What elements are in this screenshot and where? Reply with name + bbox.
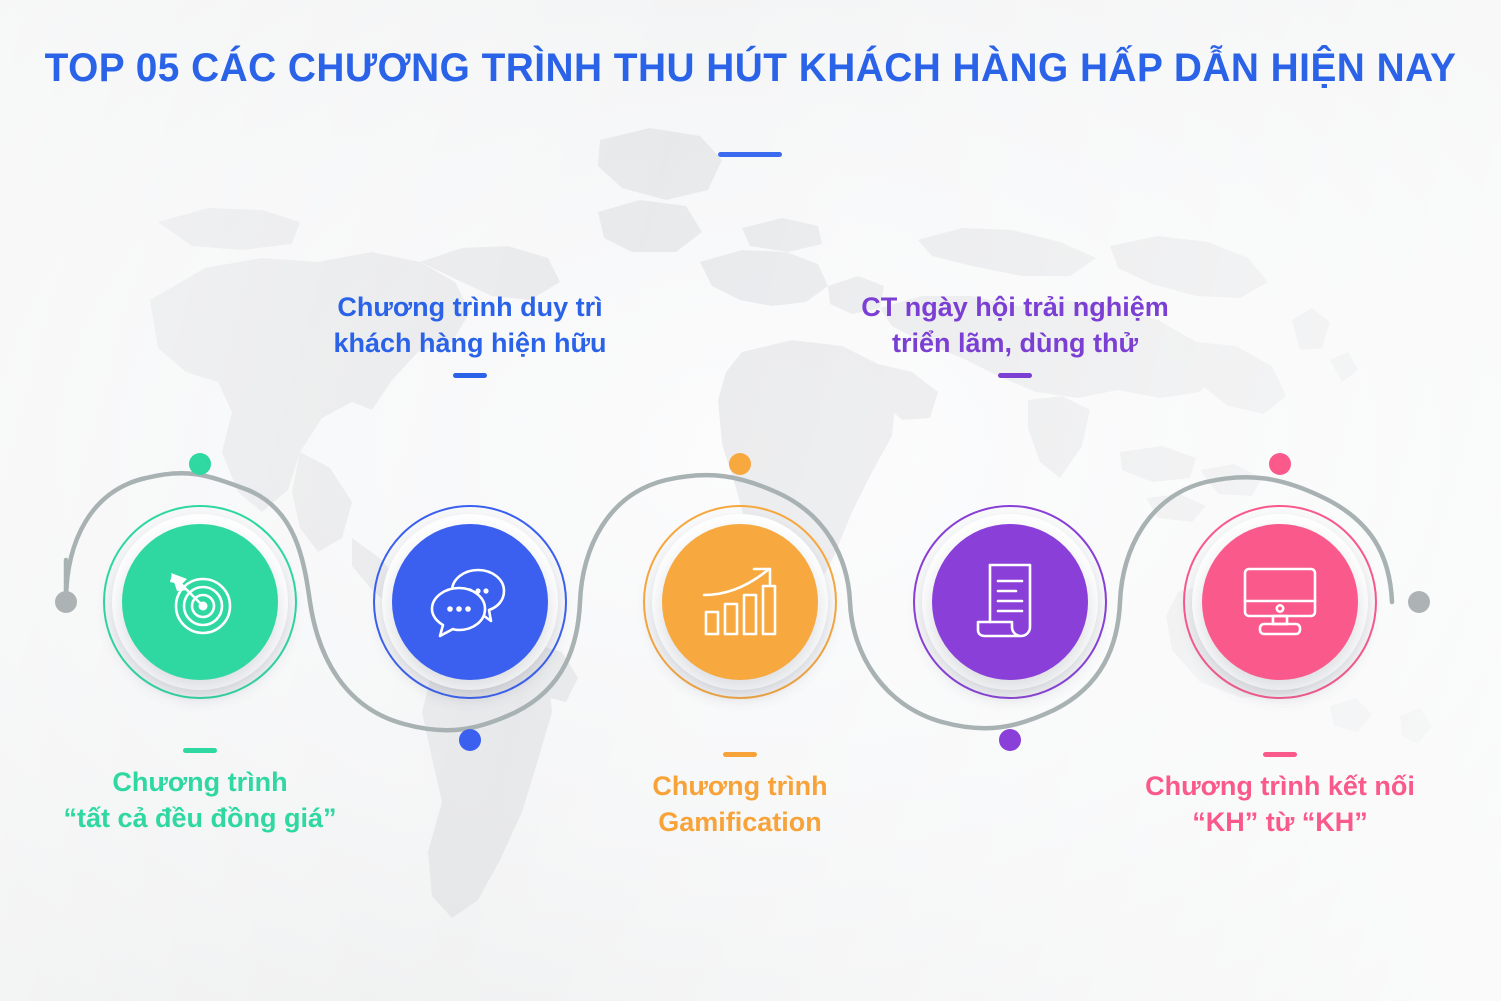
step-node-2[interactable] [373,505,567,699]
connector-path [0,0,1501,1001]
step-caption-5-line-2: “KH” từ “KH” [1080,805,1480,841]
step-dot-2 [459,729,481,751]
step-dot-1 [189,453,211,475]
step-dot-3 [729,453,751,475]
step-caption-4-line-1: CT ngày hội trải nghiệm [805,290,1225,326]
step-dot-4 [999,729,1021,751]
step-node-1[interactable] [103,505,297,699]
step-caption-4-line-2: triển lãm, dùng thử [805,326,1225,362]
step-caption-5: Chương trình kết nối “KH” từ “KH” [1080,752,1480,840]
step-node-5[interactable] [1183,505,1377,699]
step-caption-2-line-1: Chương trình duy trì [270,290,670,326]
scroll-document-icon [972,559,1048,645]
desktop-monitor-icon [1238,563,1322,641]
step-disc-3 [662,524,818,680]
page-title: TOP 05 CÁC CHƯƠNG TRÌNH THU HÚT KHÁCH HÀ… [23,46,1479,91]
target-arrow-icon [158,560,242,644]
step-caption-1-line-2: “tất cả đều đồng giá” [0,801,400,837]
connector-endpoint-right [1408,591,1430,613]
step-caption-5-dash [1263,752,1297,757]
step-caption-3-dash [723,752,757,757]
step-disc-2 [392,524,548,680]
step-caption-3-line-2: Gamification [560,805,920,841]
step-caption-3-line-1: Chương trình [560,769,920,805]
step-node-3[interactable] [643,505,837,699]
step-node-4[interactable] [913,505,1107,699]
step-caption-1: Chương trình “tất cả đều đồng giá” [0,748,400,836]
step-disc-5 [1202,524,1358,680]
world-map-background [0,0,1501,1001]
step-caption-2-dash [453,373,487,378]
step-caption-1-line-1: Chương trình [0,765,400,801]
title-divider [718,152,782,157]
step-disc-4 [932,524,1088,680]
step-caption-4-dash [998,373,1032,378]
step-caption-1-dash [183,748,217,753]
chat-bubbles-icon [426,560,514,644]
step-caption-4: CT ngày hội trải nghiệm triển lãm, dùng … [805,290,1225,378]
growth-chart-icon [697,562,783,642]
step-caption-3: Chương trình Gamification [560,752,920,840]
step-dot-5 [1269,453,1291,475]
step-caption-5-line-1: Chương trình kết nối [1080,769,1480,805]
connector-endpoint-left [55,591,77,613]
background-sheen [0,0,1501,1001]
step-caption-2-line-2: khách hàng hiện hữu [270,326,670,362]
step-disc-1 [122,524,278,680]
step-caption-2: Chương trình duy trì khách hàng hiện hữu [270,290,670,378]
infographic-canvas: TOP 05 CÁC CHƯƠNG TRÌNH THU HÚT KHÁCH HÀ… [0,0,1501,1001]
